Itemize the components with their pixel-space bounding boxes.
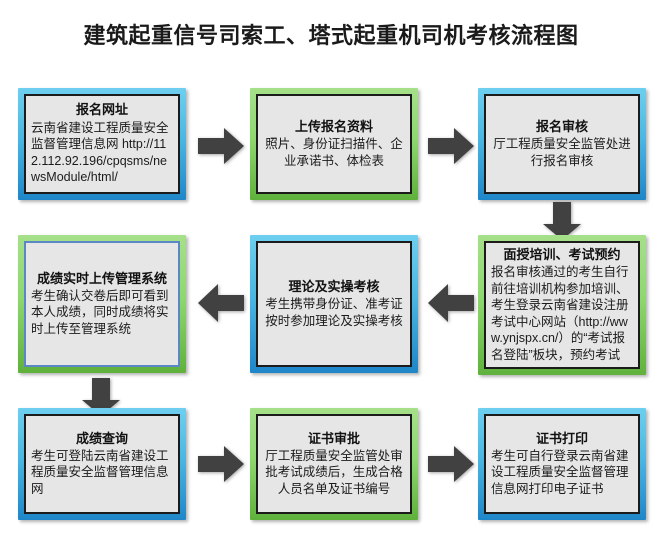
node-heading: 证书审批 (308, 431, 360, 447)
node-heading: 面授培训、考试预约 (503, 247, 620, 263)
flow-node-certificate-approval[interactable]: 证书审批 厅工程质量安全监管处审批考试成绩后，生成合格人员名单及证书编号 (250, 408, 418, 520)
node-heading: 证书打印 (536, 431, 588, 447)
flow-node-training-and-exam-booking[interactable]: 面授培训、考试预约 报名审核通过的考生自行前往培训机构参加培训、考生登录云南省建… (478, 235, 646, 375)
arrow-right-icon (426, 444, 476, 484)
arrow-right-icon (426, 126, 476, 166)
node-heading: 成绩查询 (76, 431, 128, 447)
node-heading: 理论及实操考核 (288, 279, 379, 295)
node-inner-frame: 报名网址 云南省建设工程质量安全监督管理信息网 http://112.112.9… (24, 94, 180, 194)
node-inner-frame: 上传报名资料 照片、身份证扫描件、企业承诺书、体检表 (256, 94, 412, 194)
node-body: 考生携带身份证、准考证按时参加理论及实操考核 (263, 296, 405, 329)
node-body: 照片、身份证扫描件、企业承诺书、体检表 (263, 136, 405, 169)
node-heading: 成绩实时上传管理系统 (37, 271, 167, 287)
node-body: 厅工程质量安全监管处审批考试成绩后，生成合格人员名单及证书编号 (263, 448, 405, 498)
node-inner-frame: 成绩查询 考生可登陆云南省建设工程质量安全监督管理信息网 (24, 414, 180, 514)
node-heading: 报名网址 (76, 102, 128, 118)
node-body: 考生确认交卷后即可看到本人成绩，同时成绩将实时上传至管理系统 (31, 288, 173, 338)
flow-node-registration-url[interactable]: 报名网址 云南省建设工程质量安全监督管理信息网 http://112.112.9… (18, 88, 186, 200)
node-body: 云南省建设工程质量安全监督管理信息网 http://112.112.92.196… (31, 120, 173, 186)
node-heading: 报名审核 (536, 119, 588, 135)
flow-node-score-realtime-upload-system[interactable]: 成绩实时上传管理系统 考生确认交卷后即可看到本人成绩，同时成绩将实时上传至管理系… (18, 235, 186, 373)
node-body: 考生可登陆云南省建设工程质量安全监督管理信息网 (31, 448, 173, 498)
node-inner-frame: 证书审批 厅工程质量安全监管处审批考试成绩后，生成合格人员名单及证书编号 (256, 414, 412, 514)
node-inner-frame: 报名审核 厅工程质量安全监管处进行报名审核 (484, 94, 640, 194)
node-inner-frame: 面授培训、考试预约 报名审核通过的考生自行前往培训机构参加培训、考生登录云南省建… (484, 241, 640, 369)
flow-node-upload-materials[interactable]: 上传报名资料 照片、身份证扫描件、企业承诺书、体检表 (250, 88, 418, 200)
node-body: 厅工程质量安全监管处进行报名审核 (491, 136, 633, 169)
arrow-left-icon (426, 282, 476, 324)
node-body: 报名审核通过的考生自行前往培训机构参加培训、考生登录云南省建设注册考试中心网站（… (491, 264, 633, 363)
node-body: 考生可自行登录云南省建设工程质量安全监督管理信息网打印电子证书 (491, 448, 633, 498)
page-title: 建筑起重信号司索工、塔式起重机司机考核流程图 (0, 18, 662, 50)
flow-node-theory-and-practical-exam[interactable]: 理论及实操考核 考生携带身份证、准考证按时参加理论及实操考核 (250, 235, 418, 373)
arrow-left-icon (196, 282, 246, 324)
flow-node-score-query[interactable]: 成绩查询 考生可登陆云南省建设工程质量安全监督管理信息网 (18, 408, 186, 520)
arrow-right-icon (196, 126, 246, 166)
node-heading: 上传报名资料 (295, 119, 373, 135)
flow-node-certificate-printing[interactable]: 证书打印 考生可自行登录云南省建设工程质量安全监督管理信息网打印电子证书 (478, 408, 646, 520)
node-inner-frame: 证书打印 考生可自行登录云南省建设工程质量安全监督管理信息网打印电子证书 (484, 414, 640, 514)
node-inner-frame: 理论及实操考核 考生携带身份证、准考证按时参加理论及实操考核 (256, 241, 412, 367)
arrow-right-icon (196, 444, 246, 484)
node-inner-frame: 成绩实时上传管理系统 考生确认交卷后即可看到本人成绩，同时成绩将实时上传至管理系… (24, 241, 180, 367)
flow-node-registration-review[interactable]: 报名审核 厅工程质量安全监管处进行报名审核 (478, 88, 646, 200)
